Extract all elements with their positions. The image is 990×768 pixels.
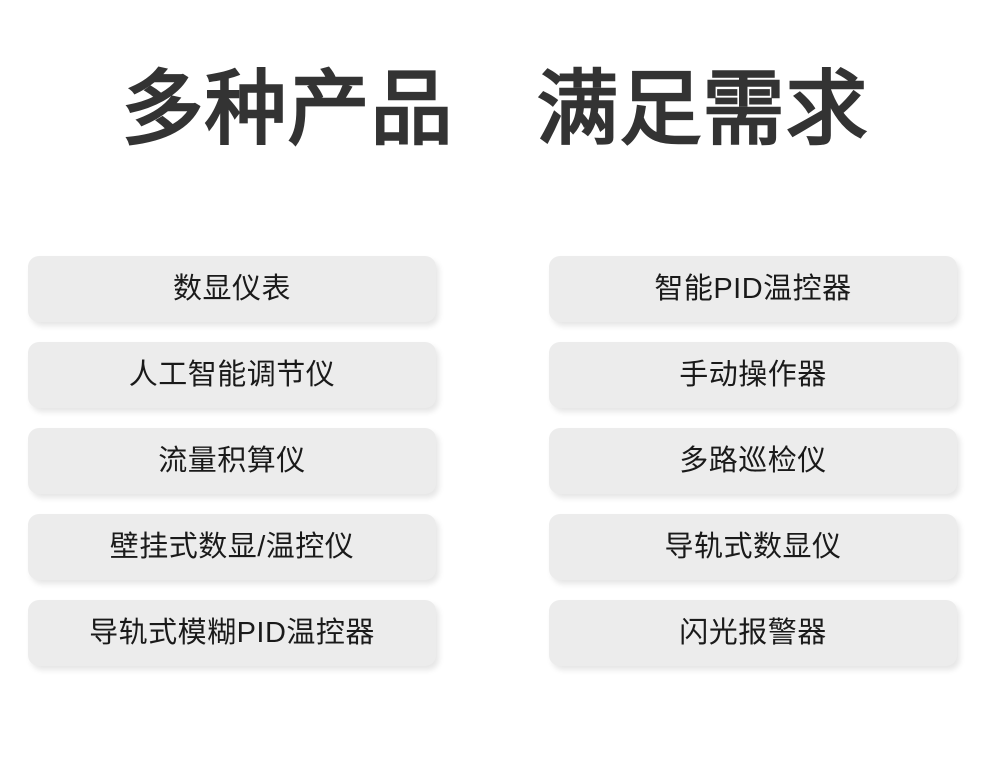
product-item-manual-operator[interactable]: 手动操作器 [549,342,957,408]
product-category-grid: 数显仪表 人工智能调节仪 流量积算仪 壁挂式数显/温控仪 导轨式模糊PID温控器… [28,256,957,666]
product-item-smart-pid-controller[interactable]: 智能PID温控器 [549,256,957,322]
product-item-ai-regulator[interactable]: 人工智能调节仪 [28,342,436,408]
product-item-label: 流量积算仪 [158,445,306,477]
product-item-digital-display-meter[interactable]: 数显仪表 [28,256,436,322]
product-item-din-rail-fuzzy-pid-controller[interactable]: 导轨式模糊PID温控器 [28,600,436,666]
product-item-label: 导轨式模糊PID温控器 [89,617,375,649]
product-column-right: 智能PID温控器 手动操作器 多路巡检仪 导轨式数显仪 闪光报警器 [549,256,957,666]
page-title: 多种产品 满足需求 [0,62,990,158]
product-column-left: 数显仪表 人工智能调节仪 流量积算仪 壁挂式数显/温控仪 导轨式模糊PID温控器 [28,256,436,666]
product-item-label: 壁挂式数显/温控仪 [110,531,355,563]
product-item-multi-channel-scanner[interactable]: 多路巡检仪 [549,428,957,494]
product-item-label: 闪光报警器 [679,617,827,649]
product-item-din-rail-digital-display[interactable]: 导轨式数显仪 [549,514,957,580]
product-item-flow-totalizer[interactable]: 流量积算仪 [28,428,436,494]
product-item-label: 导轨式数显仪 [664,531,841,563]
product-item-label: 智能PID温控器 [654,273,851,305]
product-item-label: 手动操作器 [679,359,827,391]
product-item-label: 多路巡检仪 [679,445,827,477]
product-item-wall-mounted-display-controller[interactable]: 壁挂式数显/温控仪 [28,514,436,580]
product-overview-poster: 多种产品 满足需求 数显仪表 人工智能调节仪 流量积算仪 壁挂式数显/温控仪 导… [0,0,990,768]
product-item-flash-alarm[interactable]: 闪光报警器 [549,600,957,666]
product-item-label: 数显仪表 [173,273,291,305]
product-item-label: 人工智能调节仪 [129,359,336,391]
